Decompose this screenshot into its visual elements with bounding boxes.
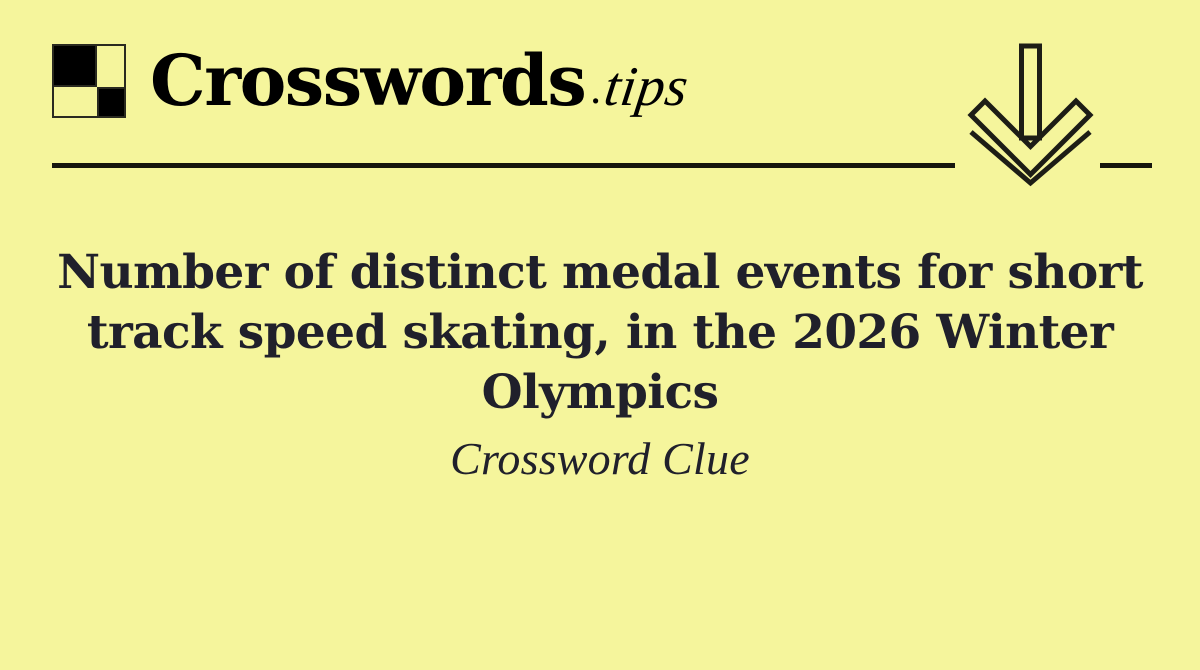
site-header: Crosswords . tips xyxy=(0,0,1200,190)
brand-wordmark: Crosswords . tips xyxy=(150,46,688,116)
crossword-grid-icon xyxy=(52,44,126,118)
header-divider-right xyxy=(1100,163,1152,168)
grid-cell-bottom-right xyxy=(97,87,124,116)
page-title: Number of distinct medal events for shor… xyxy=(44,243,1156,423)
brand-logo-link[interactable]: Crosswords . tips xyxy=(52,38,688,124)
page-root: Crosswords . tips Number of distinct med… xyxy=(0,0,1200,670)
page-subtitle: Crossword Clue xyxy=(0,431,1200,487)
header-divider-left xyxy=(52,163,955,168)
clue-main: Number of distinct medal events for shor… xyxy=(0,243,1200,487)
double-chevron-down-arrow-icon xyxy=(967,42,1094,187)
brand-name: Crosswords xyxy=(150,46,585,116)
brand-tld: tips xyxy=(601,59,692,115)
grid-cell-top-left xyxy=(54,46,97,87)
